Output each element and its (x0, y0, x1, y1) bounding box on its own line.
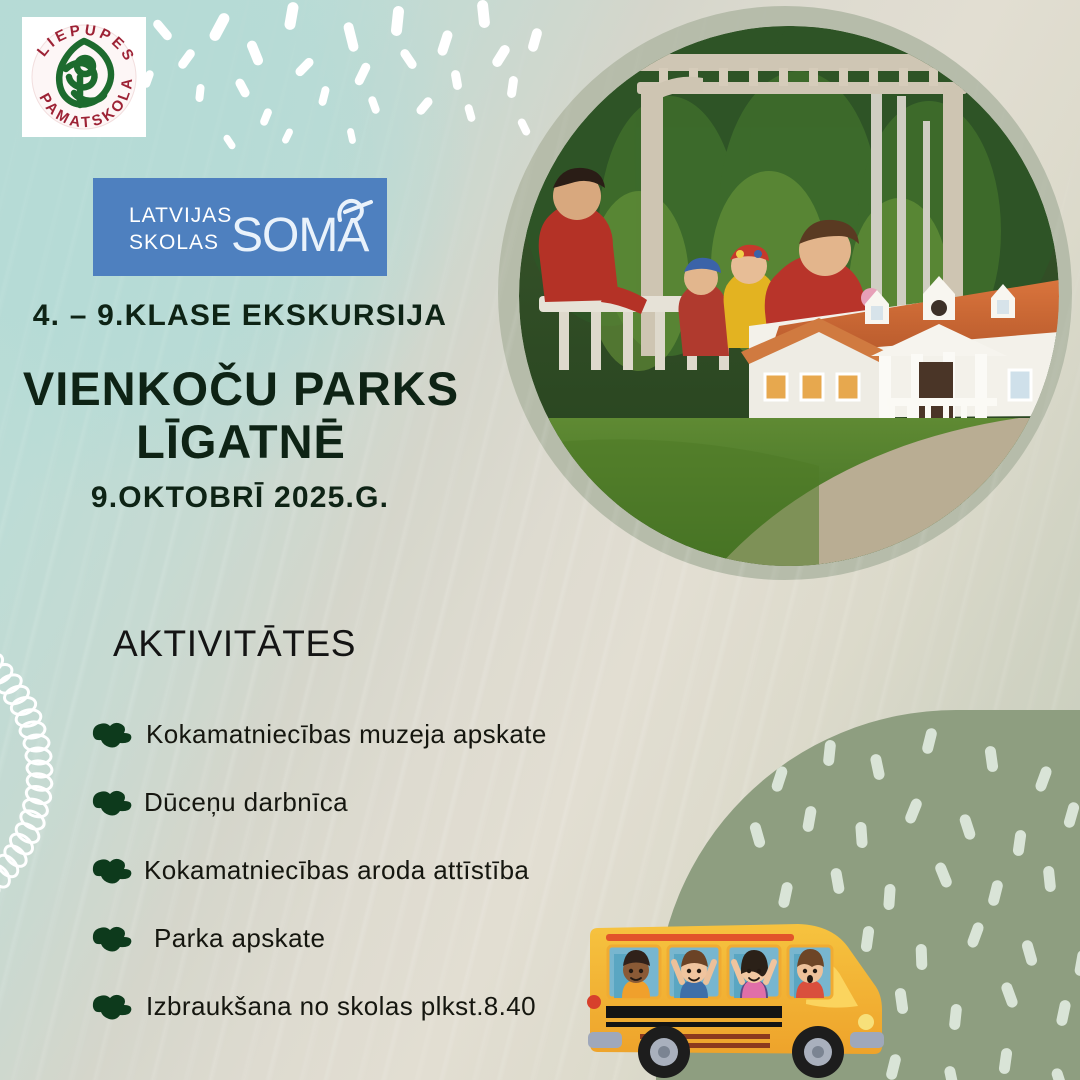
sage-corner-capsule (998, 1047, 1013, 1074)
confetti-capsule (259, 107, 273, 127)
confetti-capsule (464, 103, 477, 123)
ring-decoration (0, 869, 5, 903)
school-logo: LIEPUPES PAMATSKOLA (22, 17, 146, 137)
activities-heading: AKTIVITĀTES (113, 623, 356, 665)
confetti-capsule (516, 117, 531, 137)
partner-logo-wordmark: SOMA (231, 209, 369, 262)
activity-item: Kokamatniecības aroda attīstība (88, 836, 728, 904)
event-date: 9.OKTOBRĪ 2025.G. (10, 481, 470, 515)
sage-corner-capsule (966, 921, 985, 949)
sage-corner-capsule (1012, 829, 1027, 856)
leaf-bullet-icon (88, 922, 132, 954)
ring-decoration (0, 658, 18, 689)
sage-corner-capsule (934, 861, 954, 889)
sage-corner-capsule (770, 765, 788, 793)
confetti-capsule (490, 43, 511, 69)
confetti-capsule (281, 127, 294, 144)
sage-corner-capsule (958, 813, 976, 841)
leaf-bullet-icon (88, 718, 132, 750)
ring-decoration (15, 805, 49, 835)
partner-logo-latvijas-skolas-soma: LATVIJAS SKOLAS SOMA (93, 178, 387, 276)
partner-logo-line1: LATVIJAS (129, 204, 232, 227)
confetti-capsule (151, 18, 173, 42)
activity-item: Kokamatniecības muzeja apskate (88, 700, 728, 768)
ring-decoration (0, 850, 24, 884)
confetti-capsule (436, 29, 454, 57)
sage-corner-capsule (921, 727, 938, 755)
sage-corner-capsule (1074, 949, 1080, 977)
ring-decoration (18, 719, 48, 741)
title-line-1: VIENKOČU PARKS (6, 363, 476, 416)
confetti-capsule (399, 47, 419, 70)
confetti-capsule (390, 6, 404, 37)
sage-corner-capsule (1055, 999, 1071, 1027)
confetti-capsule (245, 39, 264, 67)
ring-decoration (24, 769, 56, 794)
confetti-capsule (415, 95, 435, 116)
sage-corner-capsule (1043, 865, 1057, 892)
confetti-capsule (176, 47, 196, 70)
sage-corner-capsule (823, 739, 837, 766)
confetti-capsule (222, 133, 237, 150)
bus-child-4 (796, 949, 824, 998)
partner-logo-line2: SKOLAS (129, 231, 219, 254)
sage-corner-capsule (883, 884, 896, 911)
confetti-capsule (234, 77, 251, 99)
ring-decoration (22, 733, 51, 753)
ring-decoration (13, 706, 44, 730)
sage-corner-capsule (1021, 939, 1039, 967)
activity-label: Kokamatniecības muzeja apskate (146, 719, 547, 750)
sage-corner-capsule (802, 805, 817, 833)
confetti-capsule (346, 127, 356, 144)
confetti-capsule (343, 21, 360, 53)
sage-corner-capsule (830, 867, 845, 895)
confetti-capsule (208, 11, 232, 43)
bus-child-1 (622, 950, 650, 998)
activity-label: Izbraukšana no skolas plkst.8.40 (146, 991, 536, 1022)
sage-corner-capsule (949, 1003, 963, 1030)
confetti-capsule (318, 85, 331, 106)
confetti-capsule (353, 61, 372, 87)
confetti-capsule (294, 56, 316, 78)
sage-corner-capsule (987, 879, 1004, 907)
ring-decoration (22, 782, 55, 809)
ring-decoration (19, 794, 52, 822)
ring-decoration (7, 693, 39, 719)
confetti-capsule (527, 27, 543, 53)
sage-corner-capsule (777, 881, 793, 909)
sage-corner-capsule (904, 797, 924, 825)
confetti-capsule (450, 69, 462, 90)
sage-corner-capsule (855, 822, 868, 849)
sage-corner-capsule (1063, 801, 1080, 829)
excursion-photo (519, 26, 1059, 566)
sage-corner-capsule (1034, 765, 1053, 793)
activity-label: Kokamatniecības aroda attīstība (144, 855, 529, 886)
school-bus-illustration (580, 910, 892, 1080)
sage-corner-capsule (1050, 1067, 1068, 1080)
title-line-2: LĪGATNĒ (6, 416, 476, 469)
ring-decoration (0, 859, 15, 893)
sage-corner-capsule (1000, 981, 1019, 1009)
ring-decoration (24, 757, 54, 780)
sage-corner-capsule (943, 1065, 959, 1080)
sage-corner-capsule (916, 944, 928, 970)
ring-decoration (0, 669, 26, 699)
leaf-bullet-icon (88, 990, 132, 1022)
poster-canvas: LIEPUPES PAMATSKOLA LATVIJAS SKOLAS SOMA… (0, 0, 1080, 1080)
sage-corner-capsule (869, 753, 885, 781)
confetti-capsule (507, 75, 519, 98)
sage-corner-capsule (749, 821, 767, 849)
page-title: VIENKOČU PARKS LĪGATNĒ (6, 363, 476, 468)
ring-decoration (11, 817, 45, 848)
confetti-capsule (367, 95, 381, 115)
ring-decoration (0, 680, 33, 708)
kicker-text: 4. – 9.KLASE EKSKURSIJA (10, 299, 470, 333)
ring-decoration (0, 839, 32, 872)
ring-decoration (5, 828, 39, 860)
sage-corner-capsule (984, 745, 999, 772)
activity-label: Dūceņu darbnīca (144, 787, 348, 818)
sage-corner-capsule (894, 987, 909, 1014)
ring-decoration (24, 745, 53, 765)
activity-label: Parka apskate (154, 923, 325, 954)
leaf-bullet-icon (88, 854, 132, 886)
confetti-capsule (195, 84, 205, 103)
confetti-capsule (284, 1, 300, 30)
ring-decoration (0, 648, 9, 680)
activity-item: Dūceņu darbnīca (88, 768, 728, 836)
confetti-capsule (477, 0, 491, 28)
leaf-bullet-icon (88, 786, 132, 818)
